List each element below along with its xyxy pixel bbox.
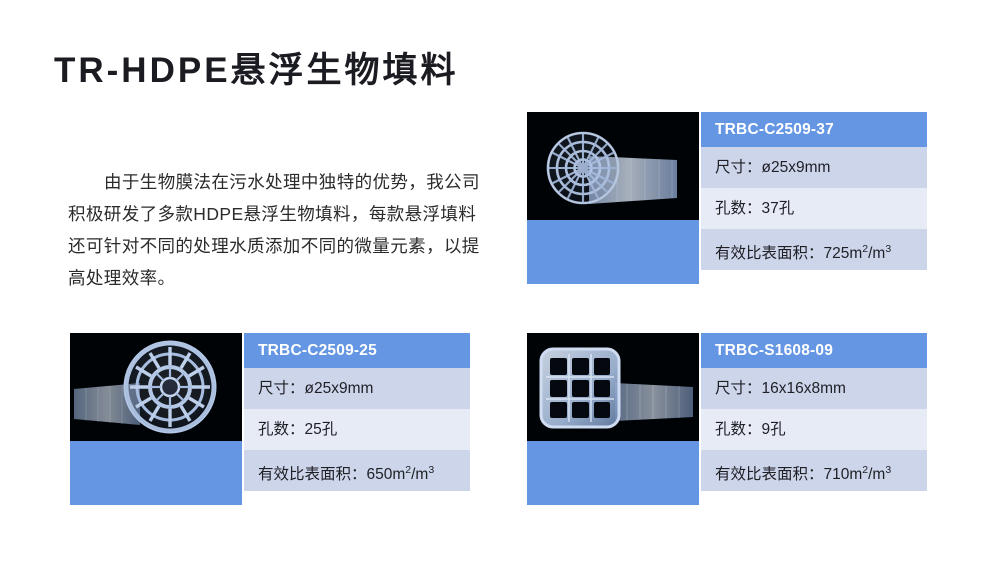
product-spec-table: TRBC-S1608-09 尺寸：16x16x8mm 孔数：9孔 有效比表面积：…: [701, 333, 927, 491]
surface-area-prefix: 有效比表面积：650m: [258, 466, 405, 483]
product-image-panel: [527, 112, 699, 284]
spec-row-size: 尺寸：16x16x8mm: [701, 368, 927, 409]
square-grid-cube-carrier-photo: [527, 333, 699, 441]
product-name-header: TRBC-C2509-37: [701, 112, 927, 147]
spec-row-surface-area: 有效比表面积：650m2/m3: [244, 450, 470, 491]
spoked-wheel-carrier-photo: [70, 333, 242, 441]
spec-row-holes: 孔数：25孔: [244, 409, 470, 450]
product-card-bottom-right[interactable]: TRBC-S1608-09 尺寸：16x16x8mm 孔数：9孔 有效比表面积：…: [527, 333, 927, 505]
surface-area-sup-3: 3: [428, 464, 434, 476]
product-image-panel: [527, 333, 699, 505]
spec-row-size: 尺寸：ø25x9mm: [244, 368, 470, 409]
spec-row-holes: 孔数：37孔: [701, 188, 927, 229]
surface-area-mid: /m: [868, 466, 885, 483]
spec-row-holes: 孔数：9孔: [701, 409, 927, 450]
surface-area-sup-3: 3: [885, 243, 891, 255]
product-card-bottom-left[interactable]: TRBC-C2509-25 尺寸：ø25x9mm 孔数：25孔 有效比表面积：6…: [70, 333, 470, 505]
product-card-top-right[interactable]: TRBC-C2509-37 尺寸：ø25x9mm 孔数：37孔 有效比表面积：7…: [527, 112, 927, 284]
slide-canvas: TR-HDPE悬浮生物填料 由于生物膜法在污水处理中独特的优势，我公司积极研发了…: [0, 0, 1000, 562]
intro-paragraph: 由于生物膜法在污水处理中独特的优势，我公司积极研发了多款HDPE悬浮生物填料，每…: [68, 166, 488, 294]
surface-area-prefix: 有效比表面积：725m: [715, 245, 862, 262]
spec-row-surface-area: 有效比表面积：710m2/m3: [701, 450, 927, 491]
surface-area-mid: /m: [868, 245, 885, 262]
product-image-panel: [70, 333, 242, 505]
product-name-header: TRBC-C2509-25: [244, 333, 470, 368]
spec-row-surface-area: 有效比表面积：725m2/m3: [701, 229, 927, 270]
honeycomb-cylinder-carrier-photo: [527, 112, 699, 220]
product-spec-table: TRBC-C2509-25 尺寸：ø25x9mm 孔数：25孔 有效比表面积：6…: [244, 333, 470, 491]
surface-area-prefix: 有效比表面积：710m: [715, 466, 862, 483]
surface-area-mid: /m: [411, 466, 428, 483]
spec-row-size: 尺寸：ø25x9mm: [701, 147, 927, 188]
product-name-header: TRBC-S1608-09: [701, 333, 927, 368]
page-title: TR-HDPE悬浮生物填料: [54, 50, 459, 92]
surface-area-sup-3: 3: [885, 464, 891, 476]
product-spec-table: TRBC-C2509-37 尺寸：ø25x9mm 孔数：37孔 有效比表面积：7…: [701, 112, 927, 270]
